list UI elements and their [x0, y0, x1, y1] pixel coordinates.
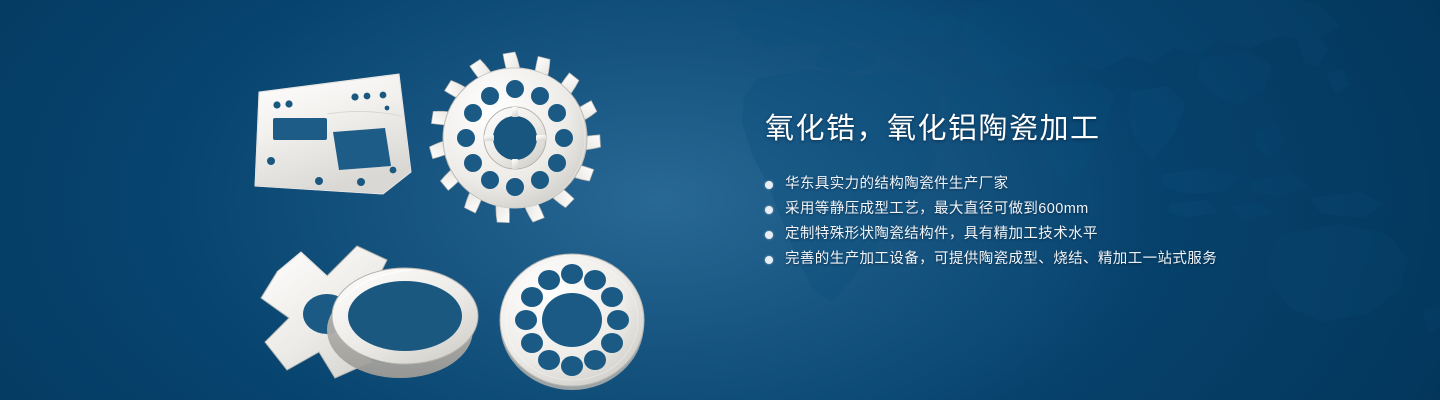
list-item-label: 定制特殊形状陶瓷结构件，具有精加工技术水平 — [785, 222, 1098, 247]
page-title: 氧化锆，氧化铝陶瓷加工 — [765, 108, 1385, 150]
list-item: 华东具实力的结构陶瓷件生产厂家 — [765, 172, 1385, 197]
list-item: 采用等静压成型工艺，最大直径可做到600mm — [765, 197, 1385, 222]
feature-list: 华东具实力的结构陶瓷件生产厂家 采用等静压成型工艺，最大直径可做到600mm 定… — [765, 172, 1385, 272]
bullet-dot-icon — [765, 181, 773, 189]
list-item: 完善的生产加工设备，可提供陶瓷成型、烧结、精加工一站式服务 — [765, 247, 1385, 272]
bullet-dot-icon — [765, 256, 773, 264]
bullet-dot-icon — [765, 206, 773, 214]
hero-banner: 氧化锆，氧化铝陶瓷加工 华东具实力的结构陶瓷件生产厂家 采用等静压成型工艺，最大… — [0, 0, 1440, 400]
list-item: 定制特殊形状陶瓷结构件，具有精加工技术水平 — [765, 222, 1385, 247]
list-item-label: 华东具实力的结构陶瓷件生产厂家 — [785, 172, 1009, 197]
banner-copy: 氧化锆，氧化铝陶瓷加工 华东具实力的结构陶瓷件生产厂家 采用等静压成型工艺，最大… — [765, 108, 1385, 272]
list-item-label: 采用等静压成型工艺，最大直径可做到600mm — [785, 197, 1089, 222]
list-item-label: 完善的生产加工设备，可提供陶瓷成型、烧结、精加工一站式服务 — [785, 247, 1217, 272]
bullet-dot-icon — [765, 231, 773, 239]
